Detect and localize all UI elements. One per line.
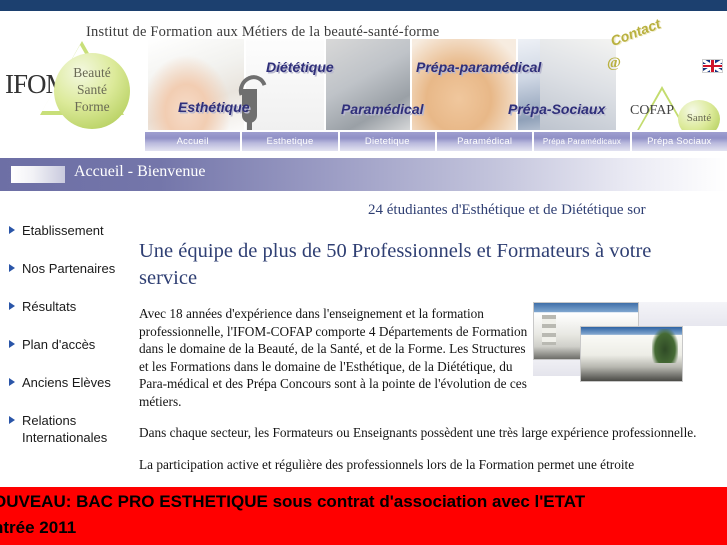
- caduceus-icon: [236, 61, 262, 130]
- alert-banner-line-2: ntrée 2011: [0, 518, 76, 538]
- arrow-bullet-icon: [9, 340, 15, 348]
- header-photo-esthetique: [148, 39, 244, 130]
- photo-placeholder-top: [637, 302, 727, 326]
- sidebar-item-nos-partenaires[interactable]: Nos Partenaires: [0, 260, 140, 277]
- wordart-dietetique: Diététique: [266, 59, 334, 75]
- logo-word-beaute: Beauté: [54, 64, 130, 81]
- sidebar-item-label: Résultats: [22, 299, 76, 314]
- sidebar-item-plan-dacces[interactable]: Plan d'accès: [0, 336, 140, 353]
- header-photo-massage: [412, 39, 516, 130]
- content-paragraph-3: La participation active et régulière des…: [139, 456, 699, 474]
- left-sidebar: Etablissement Nos Partenaires Résultats …: [0, 222, 140, 482]
- nav-item-accueil[interactable]: Accueil: [145, 132, 242, 151]
- at-sign-icon[interactable]: @: [607, 55, 621, 72]
- cofap-logo[interactable]: COFAP Santé: [630, 86, 722, 130]
- uk-flag-icon[interactable]: [702, 59, 723, 73]
- logo-word-forme: Forme: [54, 98, 130, 115]
- cofap-circle-label: Santé: [678, 100, 720, 124]
- sidebar-item-label: Etablissement: [22, 223, 104, 238]
- sidebar-item-label: Relations Internationales: [22, 413, 107, 445]
- sidebar-item-label: Anciens Elèves: [22, 375, 111, 390]
- alert-banner: OUVEAU: BAC PRO ESTHETIQUE sous contrat …: [0, 487, 727, 545]
- ifom-circle-badge: Beauté Santé Forme: [54, 53, 130, 129]
- photo-placeholder-bottom: [533, 358, 581, 376]
- site-header: Institut de Formation aux Métiers de la …: [0, 11, 727, 130]
- arrow-bullet-icon: [9, 416, 15, 424]
- page-title-banner: Accueil - Bienvenue: [0, 158, 727, 191]
- sidebar-item-anciens-eleves[interactable]: Anciens Elèves: [0, 374, 140, 391]
- sidebar-item-label: Nos Partenaires: [22, 261, 115, 276]
- nav-item-prepa-sociaux[interactable]: Prépa Sociaux: [632, 132, 727, 151]
- wordart-prepa-paramedical: Prépa-paramédical: [416, 59, 541, 75]
- sidebar-item-resultats[interactable]: Résultats: [0, 298, 140, 315]
- content-heading: Une équipe de plus de 50 Professionnels …: [139, 238, 669, 292]
- nav-item-dietetique[interactable]: Dietetique: [340, 132, 437, 151]
- cofap-circle-badge: Santé: [678, 100, 720, 130]
- arrow-bullet-icon: [9, 226, 15, 234]
- sidebar-item-relations-internationales[interactable]: Relations Internationales: [0, 412, 140, 446]
- wordart-esthetique: Esthétique: [178, 99, 250, 115]
- nav-item-paramedical[interactable]: Paramédical: [437, 132, 534, 151]
- contact-link[interactable]: Contact: [608, 15, 662, 49]
- sidebar-item-label: Plan d'accès: [22, 337, 95, 352]
- news-marquee: 24 étudiantes d'Esthétique et de Diététi…: [0, 202, 727, 224]
- page-title: Accueil - Bienvenue: [74, 163, 206, 181]
- content-paragraph-1: Avec 18 années d'expérience dans l'ensei…: [139, 305, 529, 410]
- sidebar-item-etablissement[interactable]: Etablissement: [0, 222, 140, 239]
- alert-banner-line-1: OUVEAU: BAC PRO ESTHETIQUE sous contrat …: [0, 492, 585, 512]
- ifom-logo[interactable]: IFOM Beauté Santé Forme: [2, 39, 142, 130]
- cofap-wordmark: COFAP: [630, 103, 674, 119]
- main-navigation[interactable]: Accueil Esthetique Dietetique Paramédica…: [145, 132, 727, 151]
- arrow-bullet-icon: [9, 302, 15, 310]
- building-photo-street: [580, 326, 683, 382]
- building-photos: [533, 298, 727, 380]
- content-paragraph-2: Dans chaque secteur, les Formateurs ou E…: [139, 424, 699, 442]
- nav-item-prepa-paramedicaux[interactable]: Prépa Paramédicaux: [534, 132, 631, 151]
- arrow-bullet-icon: [9, 264, 15, 272]
- marquee-text: 24 étudiantes d'Esthétique et de Diététi…: [368, 202, 646, 219]
- wordart-paramedical: Paramédical: [341, 101, 424, 117]
- logo-word-sante: Santé: [54, 81, 130, 98]
- arrow-bullet-icon: [9, 378, 15, 386]
- top-navy-strip: [0, 0, 727, 11]
- nav-item-esthetique[interactable]: Esthetique: [242, 132, 339, 151]
- wordart-prepa-sociaux: Prépa-Sociaux: [508, 101, 605, 117]
- banner-gradient-swatch: [11, 166, 65, 183]
